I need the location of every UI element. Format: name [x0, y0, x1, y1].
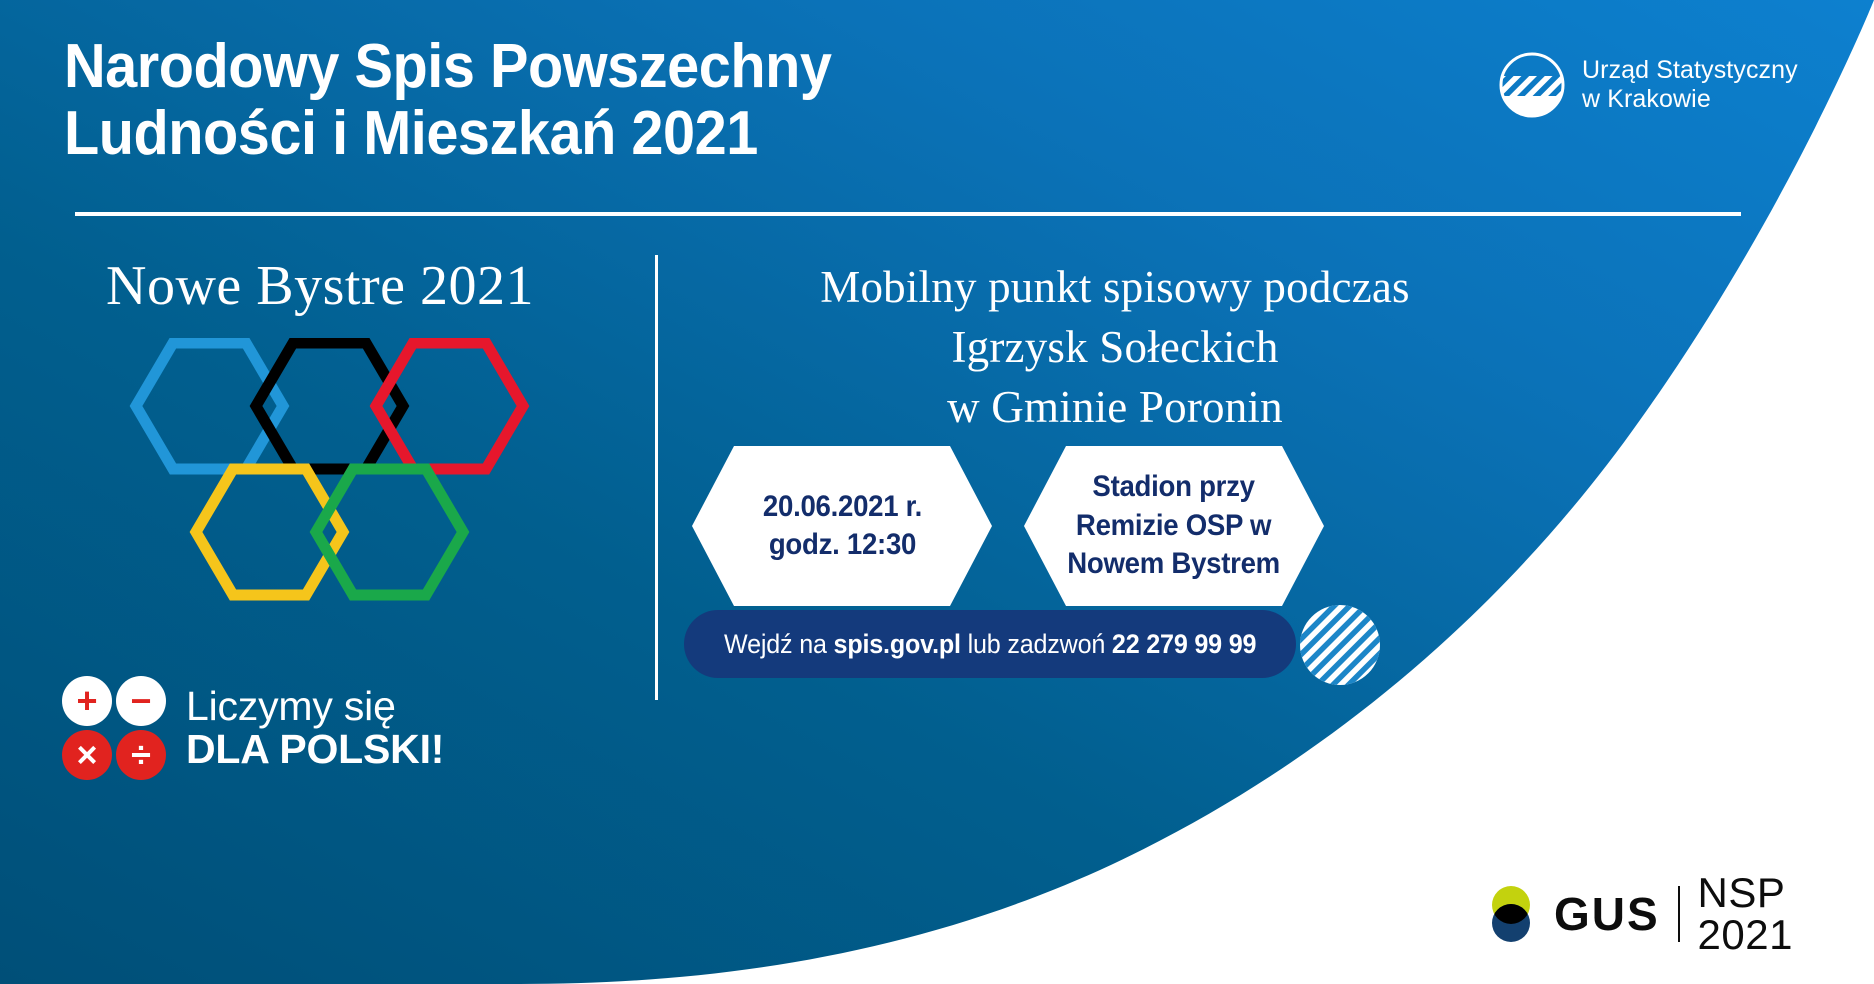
plus-icon: + — [62, 676, 112, 726]
event-title: Nowe Bystre 2021 — [0, 256, 640, 318]
gus-logo: GUS NSP 2021 — [1482, 872, 1874, 956]
date-badge: 20.06.2021 r. godz. 12:30 — [692, 446, 992, 606]
cta-prefix: Wejdź na — [724, 629, 834, 659]
hatched-circle-decoration — [1300, 605, 1380, 685]
gus-divider — [1678, 886, 1680, 942]
statistical-office-mark-icon — [1495, 48, 1569, 122]
column-separator — [655, 255, 658, 700]
cta-text: Wejdź na spis.gov.pl lub zadzwoń 22 279 … — [724, 629, 1256, 660]
liczymy-sie-slogan: + − × ÷ Liczymy się DLA POLSKI! — [62, 676, 444, 780]
page-title: Narodowy Spis Powszechny Ludności i Mies… — [64, 34, 1459, 168]
minus-icon: − — [116, 676, 166, 726]
info-badges: 20.06.2021 r. godz. 12:30 Stadion przy R… — [686, 446, 1346, 606]
urzad-statystyczny-logo: Urząd Statystyczny w Krakowie — [1495, 48, 1798, 122]
operator-icons: + − × ÷ — [62, 676, 166, 780]
header: Narodowy Spis Powszechny Ludności i Mies… — [64, 34, 1564, 168]
olympic-hexagon-rings — [110, 338, 630, 648]
office-logo-text: Urząd Statystyczny w Krakowie — [1582, 56, 1798, 115]
poster-canvas: Narodowy Spis Powszechny Ludności i Mies… — [0, 0, 1874, 984]
cta-site: spis.gov.pl — [833, 629, 960, 659]
gus-circles-icon — [1482, 885, 1540, 943]
hatch-circle-icon — [1300, 605, 1380, 685]
divide-icon: ÷ — [116, 730, 166, 780]
date-badge-text: 20.06.2021 r. godz. 12:30 — [762, 488, 921, 565]
slogan-text: Liczymy się DLA POLSKI! — [186, 685, 444, 772]
cta-phone: 22 279 99 99 — [1112, 629, 1256, 659]
location-badge-text: Stadion przy Remizie OSP w Nowem Bystrem — [1068, 468, 1281, 583]
hexagon-rings-icon — [110, 338, 630, 648]
gus-wordmark: GUS — [1554, 891, 1660, 937]
slogan-line-1: Liczymy się — [186, 685, 444, 728]
event-description: Mobilny punkt spisowy podczas Igrzysk So… — [680, 258, 1550, 438]
cta-middle: lub zadzwoń — [961, 629, 1112, 659]
multiply-icon: × — [62, 730, 112, 780]
slogan-line-2: DLA POLSKI! — [186, 728, 444, 771]
nsp-label: NSP 2021 — [1698, 872, 1874, 956]
header-divider — [75, 212, 1741, 216]
cta-bar[interactable]: Wejdź na spis.gov.pl lub zadzwoń 22 279 … — [684, 610, 1296, 678]
location-badge: Stadion przy Remizie OSP w Nowem Bystrem — [1024, 446, 1324, 606]
